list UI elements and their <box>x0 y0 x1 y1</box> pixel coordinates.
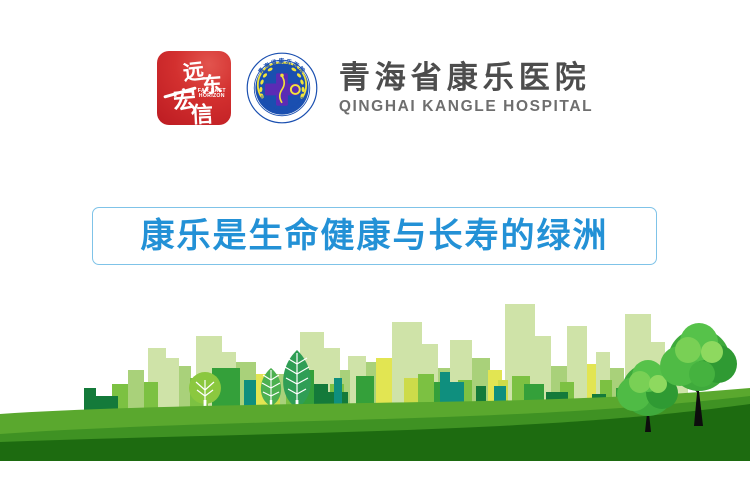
far-east-horizon-logo: 远 东 宏 信 FAR EAST HORIZON <box>157 51 231 125</box>
far-east-horizon-english: FAR EAST HORIZON <box>194 89 230 100</box>
headline-box: 康乐是生命健康与长寿的绿洲 <box>92 207 657 265</box>
banner-root: 远 东 宏 信 FAR EAST HORIZON <box>0 0 750 477</box>
fe-en-line2: HORIZON <box>194 94 230 99</box>
hospital-name-block: 青海省康乐医院 QINGHAI KANGLE HOSPITAL <box>339 62 593 115</box>
green-city-scenery <box>0 296 750 461</box>
hospital-name-en: QINGHAI KANGLE HOSPITAL <box>339 99 593 115</box>
logo-lockup: 远 东 宏 信 FAR EAST HORIZON <box>0 42 750 134</box>
hospital-seal-emblem-icon: 青海省康乐医院 QINGHAI KANGLE HOSPITAL <box>245 51 319 125</box>
foreground-tree-right-canopy <box>660 323 737 391</box>
headline-text: 康乐是生命健康与长寿的绿洲 <box>141 219 609 253</box>
hospital-name-cn: 青海省康乐医院 <box>339 62 593 95</box>
fe-char-4: 信 <box>190 96 214 125</box>
